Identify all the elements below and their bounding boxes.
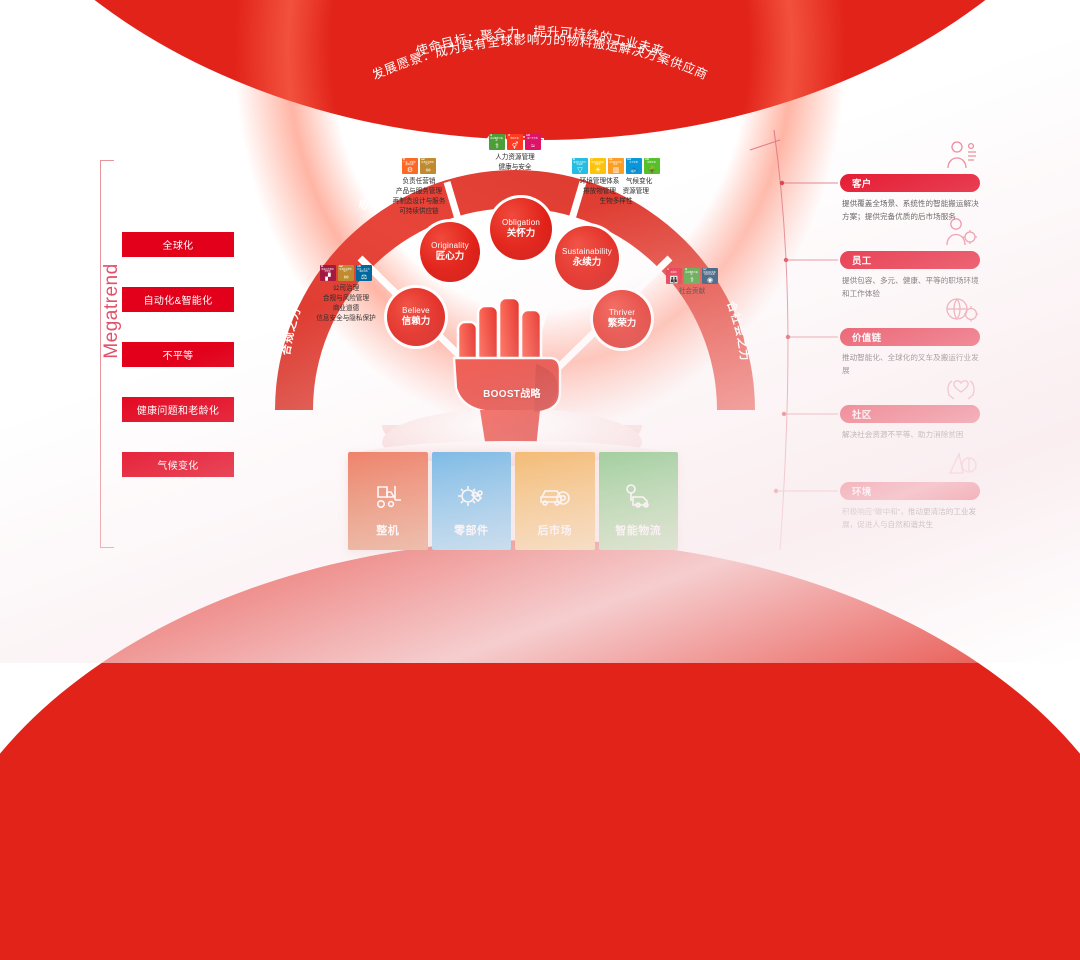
car-service-icon — [538, 483, 572, 516]
stakeholder-title: 客户 — [840, 174, 980, 192]
sdg-icon-8: 8体面工作和经济增长▞ — [320, 265, 336, 281]
business-card-label: 智能物流 — [615, 522, 661, 538]
globe-gear-icon — [944, 294, 978, 329]
stakeholder-desc: 积极响应“碳中和”，推动更清洁的工业发展，促进人与自然和谐共生 — [840, 505, 980, 532]
megatrend-item-automation[interactable]: 自动化&智能化 — [122, 287, 234, 312]
sdg-icon-3: 3良好健康与福祉⚕ — [489, 134, 505, 150]
business-card-parts[interactable]: 零部件 — [432, 452, 512, 550]
gear-wrench-icon — [455, 483, 487, 516]
bubble-sustainability[interactable]: Sustainability 永续力 — [555, 226, 619, 290]
bubble-en-label: Obligation — [502, 218, 540, 227]
business-card-label: 后市场 — [538, 522, 573, 538]
sdg-icon-12: 12负责任消费和生产∞ — [420, 158, 436, 174]
sdg-icon-16: 16和平、正义与强大机构⚖ — [356, 265, 372, 281]
sdg-icon-14: 14水下生物🐟 — [626, 158, 642, 174]
bubble-originality[interactable]: Originality 匠心力 — [420, 222, 480, 282]
bubble-en-label: Originality — [431, 241, 469, 250]
bubble-obligation[interactable]: Obligation 关怀力 — [490, 198, 552, 260]
stakeholder-title: 环境 — [840, 482, 980, 500]
bubble-en-label: Thriver — [609, 308, 635, 317]
bubble-en-label: Sustainability — [562, 247, 612, 256]
forklift-icon — [371, 483, 405, 516]
stakeholder-desc: 解决社会资源不平等、助力消除贫困 — [840, 428, 980, 441]
boost-strategy-label: BOOST战略 — [452, 385, 572, 400]
business-card-label: 整机 — [376, 522, 399, 538]
bubble-cn-label: 关怀力 — [507, 228, 536, 240]
customer-icon — [944, 140, 978, 175]
segment-topics-society: 社会贡献 — [637, 287, 747, 297]
sdg-icon-12: 12负责任消费和生产∞ — [338, 265, 354, 281]
smart-logistics-icon — [621, 483, 655, 516]
bubble-en-label: Believe — [402, 306, 430, 315]
stakeholder-panel: 客户 提供覆盖全场景、系统性的智能搬运解决方案；提供完备优质的后市场服务 员工 … — [790, 150, 1020, 570]
megatrend-title: Megatrend — [101, 241, 123, 381]
sdg-icon-group-compliance: 8体面工作和经济增长▞12负责任消费和生产∞16和平、正义与强大机构⚖ — [285, 265, 407, 281]
hands-heart-icon — [944, 371, 978, 406]
sdg-icon-group-society: 1无贫穷👪3良好健康与福祉⚕17促进目标实现的伙伴关系◉ — [637, 268, 747, 284]
stakeholder-title: 员工 — [840, 251, 980, 269]
megatrend-list: 全球化 自动化&智能化 不平等 健康问题和老龄化 气候变化 — [122, 232, 234, 507]
bubble-thriver[interactable]: Thriver 繁荣力 — [593, 290, 651, 348]
wheel-segment-ecology[interactable]: 6清洁饮水和卫生设施▽7经济适用的清洁能源☀11可持续城市和社区▥14水下生物🐟… — [557, 158, 675, 207]
segment-topics-innovation: 负责任营销 产品与服务管理 再制造设计与服务 可持续供应链 — [361, 177, 477, 217]
business-card-logistics[interactable]: 智能物流 — [599, 452, 679, 550]
sdg-icon-7: 7经济适用的清洁能源☀ — [590, 158, 606, 174]
sdg-icon-15: 15陆地生物🌳 — [644, 158, 660, 174]
stakeholder-title: 价值链 — [840, 328, 980, 346]
vision-statement: 发展愿景：成为具有全球影响力的物料搬运解决方案供应商 — [370, 32, 710, 83]
fist-illustration — [452, 288, 572, 453]
sdg-icon-10: 10减少不平等≈ — [525, 134, 541, 150]
infographic-canvas: 使命目标：聚合力，提升可持续的工业未来 发展愿景：成为具有全球影响力的物料搬运解… — [0, 0, 1080, 663]
sdg-icon-3: 3良好健康与福祉⚕ — [684, 268, 700, 284]
megatrend-item-climate[interactable]: 气候变化 — [122, 452, 234, 477]
sdg-icon-17: 17促进目标实现的伙伴关系◉ — [702, 268, 718, 284]
sdg-icon-5: 5性别平等⚥ — [507, 134, 523, 150]
business-card-aftermarket[interactable]: 后市场 — [515, 452, 595, 550]
bubble-cn-label: 信赖力 — [402, 316, 431, 328]
bubble-believe[interactable]: Believe 信赖力 — [387, 288, 445, 346]
sdg-icon-6: 6清洁饮水和卫生设施▽ — [572, 158, 588, 174]
megatrend-item-globalization[interactable]: 全球化 — [122, 232, 234, 257]
sdg-icon-group-employee: 3良好健康与福祉⚕5性别平等⚥10减少不平等≈ — [453, 134, 577, 150]
background-shape-bottom — [0, 540, 1080, 960]
segment-topics-ecology: 环境管理体系 气候变化 排放物管理 资源管理 生物多样性 — [557, 177, 675, 207]
bubble-cn-label: 匠心力 — [436, 251, 465, 263]
stakeholder-title: 社区 — [840, 405, 980, 423]
bubble-cn-label: 繁荣力 — [608, 318, 637, 330]
megatrend-item-inequality[interactable]: 不平等 — [122, 342, 234, 367]
sdg-icon-11: 11可持续城市和社区▥ — [608, 158, 624, 174]
stakeholder-environment[interactable]: 环境 积极响应“碳中和”，推动更清洁的工业发展，促进人与自然和谐共生 — [840, 482, 980, 532]
sdg-icon-1: 1无贫穷👪 — [666, 268, 682, 284]
business-card-forklift[interactable]: 整机 — [348, 452, 428, 550]
stakeholder-community[interactable]: 社区 解决社会资源不平等、助力消除贫困 — [840, 405, 980, 441]
employee-gear-icon — [944, 217, 978, 252]
business-card-label: 零部件 — [454, 522, 489, 538]
bubble-cn-label: 永续力 — [573, 257, 602, 269]
leaf-cloud-icon — [944, 448, 978, 483]
megatrend-item-health-aging[interactable]: 健康问题和老龄化 — [122, 397, 234, 422]
sdg-icon-9: 9产业、创新和基础设施⚙ — [402, 158, 418, 174]
business-segments-band: 整机 零部件 后市场 — [348, 452, 678, 550]
sdg-icon-group-ecology: 6清洁饮水和卫生设施▽7经济适用的清洁能源☀11可持续城市和社区▥14水下生物🐟… — [557, 158, 675, 174]
wheel-segment-society[interactable]: 1无贫穷👪3良好健康与福祉⚕17促进目标实现的伙伴关系◉ 社会贡献 — [637, 268, 747, 297]
